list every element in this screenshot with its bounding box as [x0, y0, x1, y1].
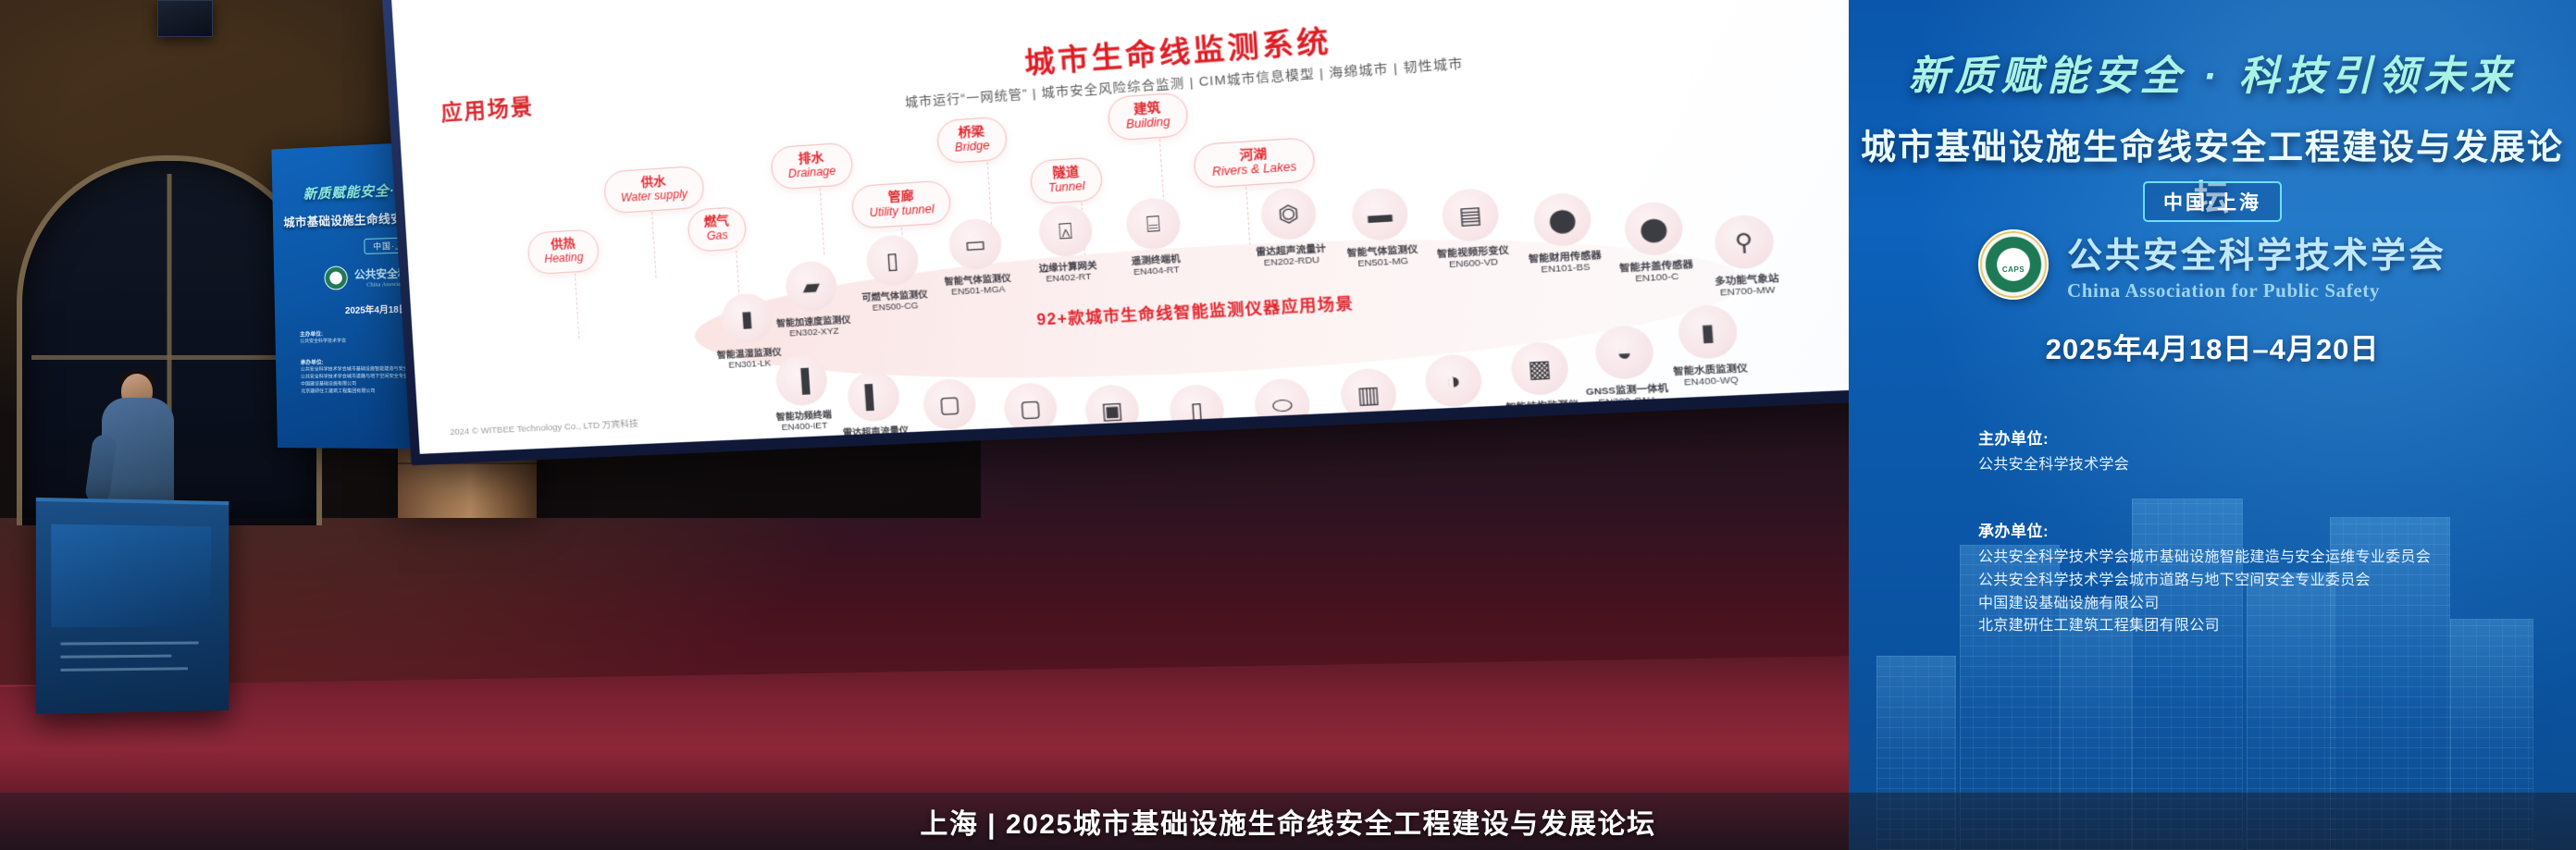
- scenario-pill-en: Building: [1126, 116, 1170, 132]
- scenario-pill-cn: 燃气: [703, 214, 729, 229]
- scenario-pill[interactable]: 建筑Building: [1107, 92, 1188, 141]
- camera-icon: ▤: [1441, 187, 1500, 242]
- list-item: 北京建研住工建筑工程集团有限公司: [1978, 615, 2431, 638]
- banner-location-chip: 中国·上海: [2143, 181, 2282, 222]
- event-banner: 新质赋能安全 · 科技引领未来 城市基础设施生命线安全工程建设与发展论坛 中国·…: [1849, 0, 2576, 850]
- device-node[interactable]: ▮智能水质监测仪EN400-WQ: [1644, 302, 1773, 390]
- scenario-pill[interactable]: 河湖Rivers & Lakes: [1193, 137, 1316, 189]
- scenario-pill[interactable]: 燃气Gas: [687, 206, 747, 253]
- flat-sensor-icon: ▭: [947, 217, 1003, 271]
- banner-host-items: 公共安全科学技术学会: [1978, 454, 2129, 477]
- scenario-pill[interactable]: 供水Water supply: [603, 166, 705, 214]
- list-item: 公共安全科学技术学会城市基础设施智能建造与安全运维专业委员会: [1978, 547, 2431, 570]
- antenna-gateway-icon: ⍓: [1037, 204, 1094, 258]
- structure-diag-icon: ◑: [1424, 353, 1483, 408]
- lectern: [36, 498, 229, 714]
- screenshot-root: 新质赋能安全·科技引领未来 城市基础设施生命线安全工程建设与发展论坛 中国·上海…: [0, 0, 2576, 850]
- banner-organization: 公共安全科学技术学会 China Association for Public …: [1849, 227, 2576, 302]
- structure-monitor-icon: ▩: [1509, 341, 1569, 397]
- scenario-pill-en: Tunnel: [1048, 180, 1085, 196]
- lectern-panel: [51, 524, 211, 628]
- bottom-caption-text: 上海 | 2025城市基础设施生命线安全工程建设与发展论坛: [920, 801, 1655, 842]
- connector-dash-line: [820, 188, 825, 254]
- scenario-pill-en: Bridge: [955, 140, 990, 155]
- banner-date: 2025年4月18日–4月20日: [1849, 326, 2576, 367]
- banner-coorg-block: 承办单位: 公共安全科学技术学会城市基础设施智能建造与安全运维专业委员会公共安全…: [1978, 518, 2431, 638]
- presentation-slide: WITBEE 万宾 应用场景 城市生命线监测系统 城市运行“一网统管” | 城市…: [390, 0, 2086, 454]
- device-node[interactable]: ⚲多功能气象站EN700-MW: [1681, 212, 1811, 301]
- slab-sensor-icon: ▯: [865, 234, 920, 287]
- banner-org-en: China Association for Public Safety: [2067, 279, 2446, 302]
- box-sensor-icon: ▰: [785, 260, 838, 313]
- scenario-pill-en: Utility tunnel: [869, 203, 935, 220]
- weather-station-icon: ⚲: [1714, 214, 1776, 270]
- device-node[interactable]: ⌸遥测终端机EN404-RT: [1096, 195, 1214, 280]
- caps-seal-large-icon: [1978, 229, 2049, 300]
- brick-sensor-icon: ▬: [1350, 187, 1409, 242]
- led-screen: WITBEE 万宾 应用场景 城市生命线监测系统 城市运行“一网统管” | 城市…: [390, 0, 2086, 454]
- banner-script-line: 新质赋能安全 · 科技引领未来: [1849, 43, 2576, 102]
- water-quality-icon: ▮: [1677, 304, 1739, 360]
- scenario-pill-en: Rivers & Lakes: [1212, 161, 1297, 179]
- connector-dash-line: [575, 273, 579, 339]
- banner-host-block: 主办单位: 公共安全科学技术学会: [1978, 425, 2129, 477]
- banner-host-label: 主办单位:: [1978, 425, 2129, 449]
- probe-sensor-icon: ▌: [847, 370, 901, 423]
- banner-org-cn: 公共安全科学技术学会: [2067, 227, 2446, 277]
- scenario-pill[interactable]: 桥梁Bridge: [936, 116, 1008, 164]
- ceiling-speaker-3: [157, 0, 213, 37]
- pressure-sensor-icon: ▢: [922, 378, 977, 431]
- list-item: 中国建设基础设施有限公司: [1978, 593, 2431, 616]
- scenario-pill-en: Heating: [544, 251, 584, 265]
- banner-coorg-label: 承办单位:: [1978, 518, 2431, 541]
- bottom-caption-bar: 上海 | 2025城市基础设施生命线安全工程建设与发展论坛: [0, 793, 2576, 850]
- scenario-pill[interactable]: 供热Heating: [526, 228, 600, 275]
- banner-location-wrap: 中国·上海: [1849, 181, 2576, 222]
- scenario-pill-en: Gas: [704, 229, 730, 244]
- banner-coorg-items: 公共安全科学技术学会城市基础设施智能建造与安全运维专业委员会公共安全科学技术学会…: [1978, 547, 2431, 638]
- list-item: 公共安全科学技术学会城市道路与地下空间安全专业委员会: [1978, 570, 2431, 593]
- slide-footer: 2024 © WITBEE Technology Co., LTD 万宾科技: [450, 416, 638, 438]
- caps-seal-icon: [325, 265, 349, 289]
- router-icon: ⌸: [1125, 197, 1183, 251]
- manhole-sensor-icon: ⬤: [1623, 201, 1684, 257]
- connector-dash-line: [651, 212, 657, 277]
- scenario-pill-en: Drainage: [787, 165, 836, 181]
- scenario-pill-en: Water supply: [621, 188, 688, 205]
- list-item: 公共安全科学技术学会: [1978, 454, 2129, 477]
- scenario-pill[interactable]: 隧道Tunnel: [1030, 156, 1104, 204]
- disc-sensor-icon: ⬤: [1532, 191, 1592, 247]
- scenario-pill[interactable]: 排水Drainage: [770, 142, 853, 190]
- dome-sensor-icon: ⏣: [1259, 186, 1318, 240]
